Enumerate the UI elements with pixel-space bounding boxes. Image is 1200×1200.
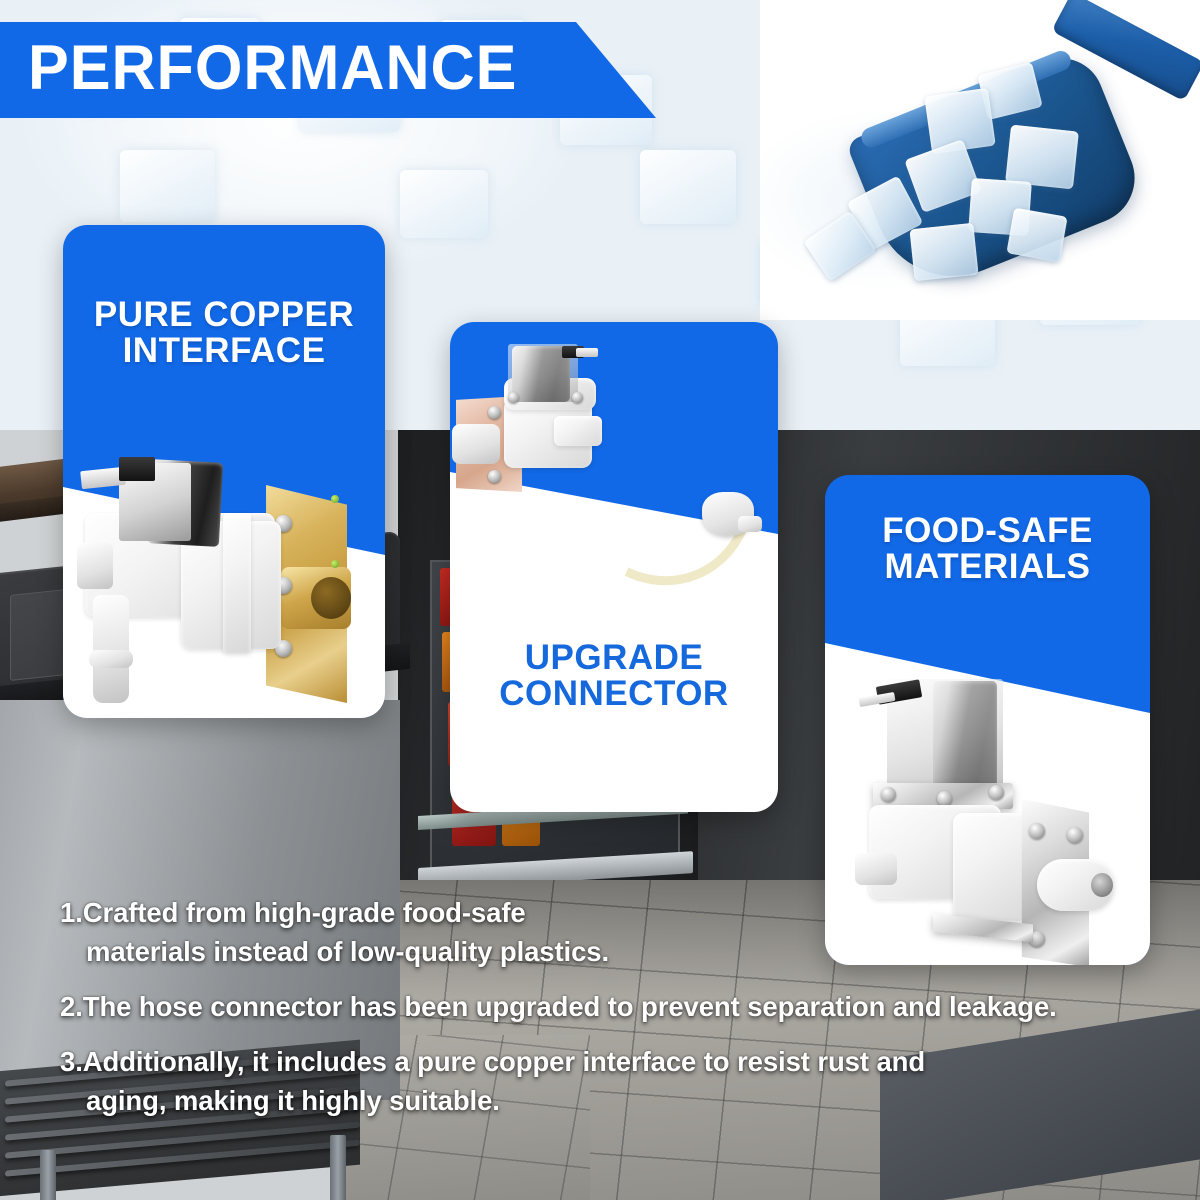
bullet-3-number: 3. xyxy=(60,1046,83,1077)
terminal-housing xyxy=(119,457,155,481)
card2-title-line2: CONNECTOR xyxy=(450,676,778,712)
card1-title: PURE COPPER INTERFACE xyxy=(63,297,385,370)
feature-card-pure-copper-interface[interactable]: PURE COPPER INTERFACE xyxy=(63,225,385,718)
bullet-1-number: 1. xyxy=(60,897,83,928)
valve-flange xyxy=(223,513,251,653)
feature-bullet-list: 1.Crafted from high-grade food-safe mate… xyxy=(60,893,1150,1136)
bullet-3-line1: Additionally, it includes a pure copper … xyxy=(83,1046,925,1077)
mount-screw xyxy=(881,787,896,802)
bullet-2-number: 2. xyxy=(60,991,83,1022)
outlet-port xyxy=(855,853,897,885)
performance-banner: PERFORMANCE xyxy=(0,22,660,118)
seal-dot xyxy=(331,495,339,503)
valve-port xyxy=(77,543,113,589)
card1-product-photo xyxy=(63,455,385,718)
ice-machine-leg xyxy=(40,1150,56,1200)
bullet-3-line2: aging, making it highly suitable. xyxy=(60,1081,1150,1120)
spade-terminal xyxy=(576,348,598,357)
hose-end-barb xyxy=(738,516,762,532)
mount-screw xyxy=(1067,827,1083,843)
card2-title: UPGRADE CONNECTOR xyxy=(450,640,778,713)
ice-scoop-photo xyxy=(760,0,1200,320)
ice-cube xyxy=(1006,208,1067,263)
mount-screw xyxy=(1029,823,1045,839)
mount-screw xyxy=(989,785,1004,800)
bullet-item-2: 2.The hose connector has been upgraded t… xyxy=(60,987,1150,1026)
inlet-port xyxy=(452,424,500,464)
card3-title: FOOD-SAFE MATERIALS xyxy=(825,513,1150,586)
card2-title-line1: UPGRADE xyxy=(450,640,778,676)
card1-title-line2: INTERFACE xyxy=(63,333,385,369)
card2-product-photo xyxy=(450,330,778,542)
card3-title-line1: FOOD-SAFE xyxy=(825,513,1150,549)
feature-card-upgrade-connector[interactable]: UPGRADE CONNECTOR xyxy=(450,322,778,812)
bullet-item-3: 3.Additionally, it includes a pure coppe… xyxy=(60,1042,1150,1120)
ice-cube xyxy=(1005,125,1079,190)
bullet-2-line1: The hose connector has been upgraded to … xyxy=(83,991,1057,1022)
bullet-1-line2: materials instead of low-quality plastic… xyxy=(60,932,1150,971)
bullet-1-line1: Crafted from high-grade food-safe xyxy=(83,897,526,928)
ice-cube xyxy=(909,223,978,281)
mount-screw xyxy=(488,470,501,483)
banner-title: PERFORMANCE xyxy=(28,37,533,100)
card1-title-line1: PURE COPPER xyxy=(63,297,385,333)
seal-dot xyxy=(331,560,339,568)
outlet-nipple xyxy=(93,595,129,703)
card3-title-line2: MATERIALS xyxy=(825,549,1150,585)
mount-screw xyxy=(488,406,501,419)
mount-screw xyxy=(508,392,519,403)
outlet-nipple-barb xyxy=(89,650,133,668)
bullet-item-1: 1.Crafted from high-grade food-safe mate… xyxy=(60,893,1150,971)
ice-machine-leg xyxy=(330,1135,346,1200)
mount-screw xyxy=(572,392,583,403)
mount-screw xyxy=(937,791,952,806)
feature-card-food-safe-materials[interactable]: FOOD-SAFE MATERIALS xyxy=(825,475,1150,965)
brass-bore xyxy=(311,577,351,619)
